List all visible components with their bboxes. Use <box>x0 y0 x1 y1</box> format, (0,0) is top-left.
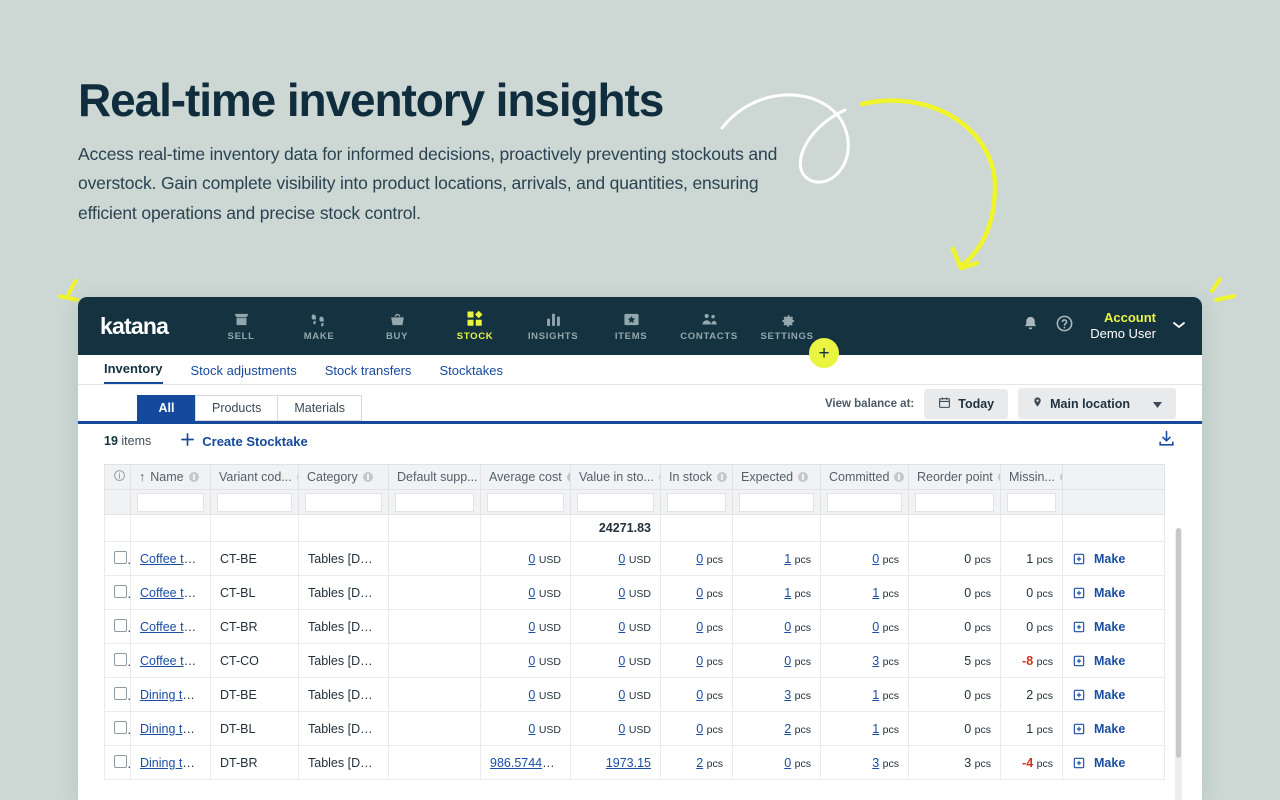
make-label: Make <box>1094 654 1125 668</box>
cell-link[interactable]: 3 <box>784 688 791 702</box>
cell-value: 3 <box>964 756 971 770</box>
item-count-suffix: items <box>118 434 151 448</box>
filter-input-reorder[interactable] <box>915 493 994 512</box>
header-label: Committed <box>829 470 889 484</box>
basket-icon <box>389 310 406 328</box>
cell-reorder-point: 0 pcs <box>909 542 1001 576</box>
app-window: katana SELL MAKE <box>78 297 1202 800</box>
summary-empty-12 <box>1063 515 1165 542</box>
table-row[interactable]: Coffee table [DEMO]CT-BRTables [DEMO]0 U… <box>105 610 1165 644</box>
unit-label: USD <box>629 656 651 668</box>
make-button[interactable]: Make <box>1072 688 1155 702</box>
cell-reorder-point: 0 pcs <box>909 610 1001 644</box>
make-button[interactable]: Make <box>1072 654 1155 668</box>
filter-input-in-stock[interactable] <box>667 493 726 512</box>
make-label: Make <box>1094 586 1125 600</box>
cell-expected: 0 pcs <box>733 746 821 780</box>
filter-input-supplier[interactable] <box>395 493 474 512</box>
summary-empty-4 <box>299 515 389 542</box>
unit-label: USD <box>539 724 561 736</box>
cell-value: 2 <box>1026 688 1033 702</box>
product-name-link[interactable]: Dining table [DEMO] <box>140 688 211 702</box>
cell-link[interactable]: 0 <box>528 620 535 634</box>
cell-committed: 0 pcs <box>821 542 909 576</box>
cell-link[interactable]: 0 <box>528 654 535 668</box>
unit-label: USD <box>629 588 651 600</box>
unit-label: pcs <box>795 656 811 668</box>
cell-link[interactable]: 0 <box>618 654 625 668</box>
nav-label: STOCK <box>457 331 494 342</box>
help-dot-icon[interactable] <box>189 472 199 482</box>
cell-action: Make <box>1063 576 1165 610</box>
header-in-stock[interactable]: In stock <box>661 465 733 490</box>
header-average-cost[interactable]: Average cost <box>481 465 571 490</box>
cell-value: 0 <box>1026 620 1033 634</box>
cell-variant-code: CT-CO <box>211 644 299 678</box>
gear-icon <box>779 310 796 328</box>
filter-cell-value <box>571 490 661 515</box>
nav-item-buy[interactable]: BUY <box>358 310 436 342</box>
cell-expected: 3 pcs <box>733 678 821 712</box>
summary-empty-6 <box>481 515 571 542</box>
cell-value-in-stock: 0 USD <box>571 610 661 644</box>
cell-link[interactable]: 0 <box>528 586 535 600</box>
cell-value: 0 <box>964 688 971 702</box>
cell-link[interactable]: 1 <box>872 688 879 702</box>
nav-label: INSIGHTS <box>528 331 578 342</box>
nav-label: BUY <box>386 331 408 342</box>
make-button[interactable]: Make <box>1072 756 1155 770</box>
table-vertical-scrollbar[interactable] <box>1175 528 1182 800</box>
cell-category: Tables [DEMO] <box>299 610 389 644</box>
cell-category: Tables [DEMO] <box>299 746 389 780</box>
filter-input-avg-cost[interactable] <box>487 493 564 512</box>
location-value: Main location <box>1050 397 1130 411</box>
unit-label: USD <box>539 622 561 634</box>
segment-products[interactable]: Products <box>195 395 277 421</box>
segment-materials[interactable]: Materials <box>277 395 362 421</box>
help-dot-icon[interactable] <box>567 472 571 482</box>
nav-item-items[interactable]: ITEMS <box>592 310 670 342</box>
filter-cell-variant <box>211 490 299 515</box>
table-row[interactable]: Coffee table [DEMO]CT-BLTables [DEMO]0 U… <box>105 576 1165 610</box>
product-name-link[interactable]: Coffee table [DEMO] <box>140 620 211 634</box>
unit-label: USD <box>629 724 651 736</box>
cell-in-stock: 0 pcs <box>661 678 733 712</box>
unit-label: USD <box>539 690 561 702</box>
cell-committed: 3 pcs <box>821 644 909 678</box>
nav-item-sell[interactable]: SELL <box>202 310 280 342</box>
cell-expected: 2 pcs <box>733 712 821 746</box>
header-committed[interactable]: Committed <box>821 465 909 490</box>
cell-link[interactable]: 0 <box>696 688 703 702</box>
header-info[interactable] <box>105 465 131 490</box>
row-checkbox-cell <box>105 678 131 712</box>
row-checkbox[interactable] <box>114 687 127 700</box>
cell-link[interactable]: 0 <box>784 620 791 634</box>
variant-code: CT-BL <box>220 586 255 600</box>
filter-input-name[interactable] <box>137 493 204 512</box>
cell-reorder-point: 0 pcs <box>909 712 1001 746</box>
filter-input-expected[interactable] <box>739 493 814 512</box>
variant-code: DT-BL <box>220 722 255 736</box>
filter-cell-actions <box>1063 490 1165 515</box>
unit-label: pcs <box>795 724 811 736</box>
summary-empty-10 <box>909 515 1001 542</box>
row-checkbox-cell <box>105 542 131 576</box>
header-label: Default supp... <box>397 470 478 484</box>
cell-link[interactable]: 0 <box>528 552 535 566</box>
make-button[interactable]: Make <box>1072 722 1155 736</box>
top-navigation: katana SELL MAKE <box>78 297 1202 355</box>
summary-empty-7 <box>661 515 733 542</box>
quick-add-button[interactable]: + <box>809 338 839 368</box>
cell-variant-code: CT-BE <box>211 542 299 576</box>
product-name-link[interactable]: Coffee table [DEMO] <box>140 654 211 668</box>
cell-action: Make <box>1063 542 1165 576</box>
header-label: Name <box>150 470 183 484</box>
pin-icon <box>1032 395 1043 412</box>
cell-name: Coffee table [DEMO] <box>131 542 211 576</box>
cell-reorder-point: 5 pcs <box>909 644 1001 678</box>
filter-input-committed[interactable] <box>827 493 902 512</box>
cell-link[interactable]: 1 <box>784 586 791 600</box>
filter-input-category[interactable] <box>305 493 382 512</box>
header-variant-code[interactable]: Variant cod... <box>211 465 299 490</box>
filter-cell-committed <box>821 490 909 515</box>
nav-label: SELL <box>228 331 255 342</box>
filter-input-missing[interactable] <box>1007 493 1056 512</box>
spark-left-1 <box>66 278 78 297</box>
product-name-link[interactable]: Dining table [DEMO] <box>140 756 211 770</box>
cell-in-stock: 0 pcs <box>661 610 733 644</box>
header-value-in-stock[interactable]: Value in sto... <box>571 465 661 490</box>
cell-default-supplier <box>389 542 481 576</box>
header-label: Value in sto... <box>579 470 654 484</box>
cell-in-stock: 2 pcs <box>661 746 733 780</box>
cell-link[interactable]: 0 <box>696 722 703 736</box>
sub-tabs: Inventory Stock adjustments Stock transf… <box>78 355 1202 385</box>
cell-link[interactable]: 0 <box>784 654 791 668</box>
caret-down-icon <box>1153 397 1162 411</box>
nav-item-contacts[interactable]: CONTACTS <box>670 310 748 342</box>
row-checkbox-cell <box>105 576 131 610</box>
filter-cell-supplier <box>389 490 481 515</box>
product-name-link[interactable]: Dining table [DEMO] <box>140 722 211 736</box>
cell-category: Tables [DEMO] <box>299 542 389 576</box>
category: Tables [DEMO] <box>308 620 389 634</box>
cell-link[interactable]: 0 <box>696 620 703 634</box>
cell-average-cost: 0 USD <box>481 542 571 576</box>
tab-inventory[interactable]: Inventory <box>104 361 163 384</box>
filter-cell-avg-cost <box>481 490 571 515</box>
date-picker-today[interactable]: Today <box>924 389 1008 419</box>
top-nav-right: Account Demo User <box>1022 297 1186 355</box>
header-label: Variant cod... <box>219 470 292 484</box>
cell-name: Dining table [DEMO] <box>131 746 211 780</box>
cell-reorder-point: 0 pcs <box>909 576 1001 610</box>
cell-link[interactable]: 0 <box>618 620 625 634</box>
unit-label: pcs <box>707 554 723 566</box>
variant-code: CT-BR <box>220 620 258 634</box>
cell-link[interactable]: 0 <box>872 552 879 566</box>
make-button[interactable]: Make <box>1072 586 1155 600</box>
cell-default-supplier <box>389 576 481 610</box>
cell-value-in-stock: 1973.15 <box>571 746 661 780</box>
unit-label: pcs <box>975 588 991 600</box>
unit-label: pcs <box>795 588 811 600</box>
cell-name: Coffee table [DEMO] <box>131 576 211 610</box>
cell-link[interactable]: 0 <box>618 688 625 702</box>
katana-logo[interactable]: katana <box>100 313 168 340</box>
summary-empty-3 <box>211 515 299 542</box>
negative-value: -4 <box>1022 756 1033 770</box>
cell-link[interactable]: 2 <box>784 722 791 736</box>
view-balance-label: View balance at: <box>825 398 914 410</box>
header-label: Category <box>307 470 358 484</box>
cell-link[interactable]: 1 <box>872 722 879 736</box>
unit-label: pcs <box>975 724 991 736</box>
balance-controls: View balance at: Today Main location <box>825 388 1176 419</box>
filter-input-variant[interactable] <box>217 493 292 512</box>
table-row[interactable]: Coffee table [DEMO]CT-BETables [DEMO]0 U… <box>105 542 1165 576</box>
product-name-link[interactable]: Coffee table [DEMO] <box>140 586 211 600</box>
nav-label: SETTINGS <box>761 331 814 342</box>
help-dot-icon[interactable] <box>717 472 727 482</box>
storefront-icon <box>233 310 250 328</box>
cell-link[interactable]: 0 <box>618 552 625 566</box>
row-checkbox[interactable] <box>114 551 127 564</box>
make-label: Make <box>1094 756 1125 770</box>
table-summary-row: 24271.83 <box>105 515 1165 542</box>
cell-average-cost: 0 USD <box>481 644 571 678</box>
header-label: Expected <box>741 470 793 484</box>
unit-label: pcs <box>1037 622 1053 634</box>
unit-label: pcs <box>883 690 899 702</box>
cell-default-supplier <box>389 746 481 780</box>
filter-cell-missing <box>1001 490 1063 515</box>
unit-label: pcs <box>883 724 899 736</box>
unit-label: pcs <box>883 656 899 668</box>
cell-in-stock: 0 pcs <box>661 542 733 576</box>
nav-item-stock[interactable]: STOCK <box>436 310 514 342</box>
filter-cell-expected <box>733 490 821 515</box>
cell-default-supplier <box>389 644 481 678</box>
summary-empty-5 <box>389 515 481 542</box>
cell-value-in-stock: 0 USD <box>571 644 661 678</box>
cell-link[interactable]: 1973.15 <box>606 756 651 770</box>
cell-action: Make <box>1063 712 1165 746</box>
unit-label: USD <box>629 690 651 702</box>
unit-label: USD <box>629 554 651 566</box>
help-dot-icon[interactable] <box>894 472 904 482</box>
cell-link[interactable]: 2 <box>696 756 703 770</box>
filter-cell-in-stock <box>661 490 733 515</box>
table-row[interactable]: Dining table [DEMO]DT-BRTables [DEMO]986… <box>105 746 1165 780</box>
filter-cell-category <box>299 490 389 515</box>
cell-value-in-stock: 0 USD <box>571 712 661 746</box>
cell-link[interactable]: 0 <box>528 688 535 702</box>
cell-category: Tables [DEMO] <box>299 644 389 678</box>
unit-label: pcs <box>795 622 811 634</box>
category: Tables [DEMO] <box>308 654 389 668</box>
header-reorder-point[interactable]: Reorder point <box>909 465 1001 490</box>
cell-value: 0 <box>1026 586 1033 600</box>
cell-link[interactable]: 1 <box>784 552 791 566</box>
tab-stock-transfers[interactable]: Stock transfers <box>325 363 412 384</box>
unit-label: USD <box>629 622 651 634</box>
help-dot-icon[interactable] <box>363 472 373 482</box>
cell-value-in-stock: 0 USD <box>571 542 661 576</box>
variant-code: CT-CO <box>220 654 259 668</box>
cell-missing: 0 pcs <box>1001 576 1063 610</box>
unit-label: USD <box>553 758 571 770</box>
tab-stock-adjustments[interactable]: Stock adjustments <box>191 363 297 384</box>
cell-link[interactable]: 0 <box>872 620 879 634</box>
unit-label: pcs <box>1037 758 1053 770</box>
cell-variant-code: DT-BL <box>211 712 299 746</box>
segment-all[interactable]: All <box>137 395 195 421</box>
row-checkbox-cell <box>105 644 131 678</box>
row-checkbox[interactable] <box>114 755 127 768</box>
cell-missing: 2 pcs <box>1001 678 1063 712</box>
row-checkbox[interactable] <box>114 653 127 666</box>
nav-item-insights[interactable]: INSIGHTS <box>514 310 592 342</box>
cell-name: Coffee table [DEMO] <box>131 644 211 678</box>
unit-label: pcs <box>795 758 811 770</box>
unit-label: pcs <box>707 656 723 668</box>
unit-label: USD <box>539 588 561 600</box>
cell-link[interactable]: 1 <box>872 586 879 600</box>
cell-link[interactable]: 0 <box>528 722 535 736</box>
cell-link[interactable]: 0 <box>784 756 791 770</box>
summary-empty-8 <box>733 515 821 542</box>
cell-link[interactable]: 986.57447 <box>490 756 555 770</box>
cell-link[interactable]: 3 <box>872 654 879 668</box>
unit-label: pcs <box>1037 690 1053 702</box>
nav-item-settings[interactable]: SETTINGS <box>748 310 826 342</box>
bell-icon[interactable] <box>1022 315 1039 338</box>
calendar-icon <box>938 396 951 412</box>
make-button[interactable]: Make <box>1072 552 1155 566</box>
cell-expected: 0 pcs <box>733 610 821 644</box>
cell-missing: 1 pcs <box>1001 542 1063 576</box>
filter-cell-name <box>131 490 211 515</box>
cell-committed: 1 pcs <box>821 712 909 746</box>
cell-expected: 1 pcs <box>733 576 821 610</box>
header-category[interactable]: Category <box>299 465 389 490</box>
cell-link[interactable]: 0 <box>618 722 625 736</box>
table-row[interactable]: Dining table [DEMO]DT-BLTables [DEMO]0 U… <box>105 712 1165 746</box>
cell-action: Make <box>1063 746 1165 780</box>
product-name-link[interactable]: Coffee table [DEMO] <box>140 552 211 566</box>
download-icon[interactable] <box>1157 429 1176 453</box>
cell-value: 0 <box>964 552 971 566</box>
filter-cell-empty <box>105 490 131 515</box>
header-label: Average cost <box>489 470 562 484</box>
tab-stocktakes[interactable]: Stocktakes <box>439 363 503 384</box>
unit-label: pcs <box>795 554 811 566</box>
create-stocktake-button[interactable]: Create Stocktake <box>181 433 308 449</box>
table-row[interactable]: Dining table [DEMO]DT-BETables [DEMO]0 U… <box>105 678 1165 712</box>
spark-right-1 <box>1209 276 1223 293</box>
cell-link[interactable]: 0 <box>696 586 703 600</box>
cell-committed: 1 pcs <box>821 576 909 610</box>
cell-link[interactable]: 3 <box>872 756 879 770</box>
account-label: Account <box>1090 310 1156 326</box>
unit-label: USD <box>539 656 561 668</box>
summary-empty-1 <box>105 515 131 542</box>
cell-value: 5 <box>964 654 971 668</box>
nav-label: CONTACTS <box>680 331 738 342</box>
header-missing[interactable]: Missin... <box>1001 465 1063 490</box>
unit-label: USD <box>539 554 561 566</box>
table-toolbar: 19 items Create Stocktake <box>78 424 1202 458</box>
cell-link[interactable]: 0 <box>696 654 703 668</box>
cell-committed: 1 pcs <box>821 678 909 712</box>
cell-value: 0 <box>964 722 971 736</box>
nav-item-make[interactable]: MAKE <box>280 310 358 342</box>
people-icon <box>700 310 719 328</box>
cell-average-cost: 0 USD <box>481 610 571 644</box>
spark-left-2 <box>58 294 79 302</box>
scrollbar-thumb[interactable] <box>1176 528 1181 758</box>
chevron-down-icon[interactable] <box>1172 317 1186 335</box>
cell-link[interactable]: 0 <box>696 552 703 566</box>
variant-code: DT-BE <box>220 688 257 702</box>
help-dot-icon[interactable] <box>798 472 808 482</box>
unit-label: pcs <box>883 588 899 600</box>
cell-default-supplier <box>389 610 481 644</box>
make-label: Make <box>1094 722 1125 736</box>
account-user: Demo User <box>1090 326 1156 342</box>
unit-label: pcs <box>975 690 991 702</box>
unit-label: pcs <box>883 554 899 566</box>
unit-label: pcs <box>883 758 899 770</box>
row-checkbox[interactable] <box>114 721 127 734</box>
make-button[interactable]: Make <box>1072 620 1155 634</box>
header-expected[interactable]: Expected <box>733 465 821 490</box>
filter-input-value[interactable] <box>577 493 654 512</box>
unit-label: pcs <box>883 622 899 634</box>
table-row[interactable]: Coffee table [DEMO]CT-COTables [DEMO]0 U… <box>105 644 1165 678</box>
filter-cell-reorder <box>909 490 1001 515</box>
header-default-supplier[interactable]: Default supp... <box>389 465 481 490</box>
row-checkbox[interactable] <box>114 619 127 632</box>
account-menu[interactable]: Account Demo User <box>1090 310 1156 343</box>
item-count: 19 items <box>104 434 151 448</box>
cell-value: 1 <box>1026 722 1033 736</box>
unit-label: pcs <box>1037 554 1053 566</box>
cell-link[interactable]: 0 <box>618 586 625 600</box>
unit-label: pcs <box>707 690 723 702</box>
header-label: Reorder point <box>917 470 993 484</box>
unit-label: pcs <box>707 588 723 600</box>
cell-default-supplier <box>389 712 481 746</box>
help-circle-icon[interactable] <box>1055 314 1074 338</box>
blocks-icon <box>466 310 484 328</box>
unit-label: pcs <box>707 724 723 736</box>
header-name[interactable]: ↑Name <box>131 465 211 490</box>
unit-label: pcs <box>795 690 811 702</box>
location-picker[interactable]: Main location <box>1018 388 1176 419</box>
nav-label: ITEMS <box>615 331 648 342</box>
make-label: Make <box>1094 688 1125 702</box>
unit-label: pcs <box>975 758 991 770</box>
row-checkbox[interactable] <box>114 585 127 598</box>
cell-variant-code: CT-BL <box>211 576 299 610</box>
cell-variant-code: CT-BR <box>211 610 299 644</box>
